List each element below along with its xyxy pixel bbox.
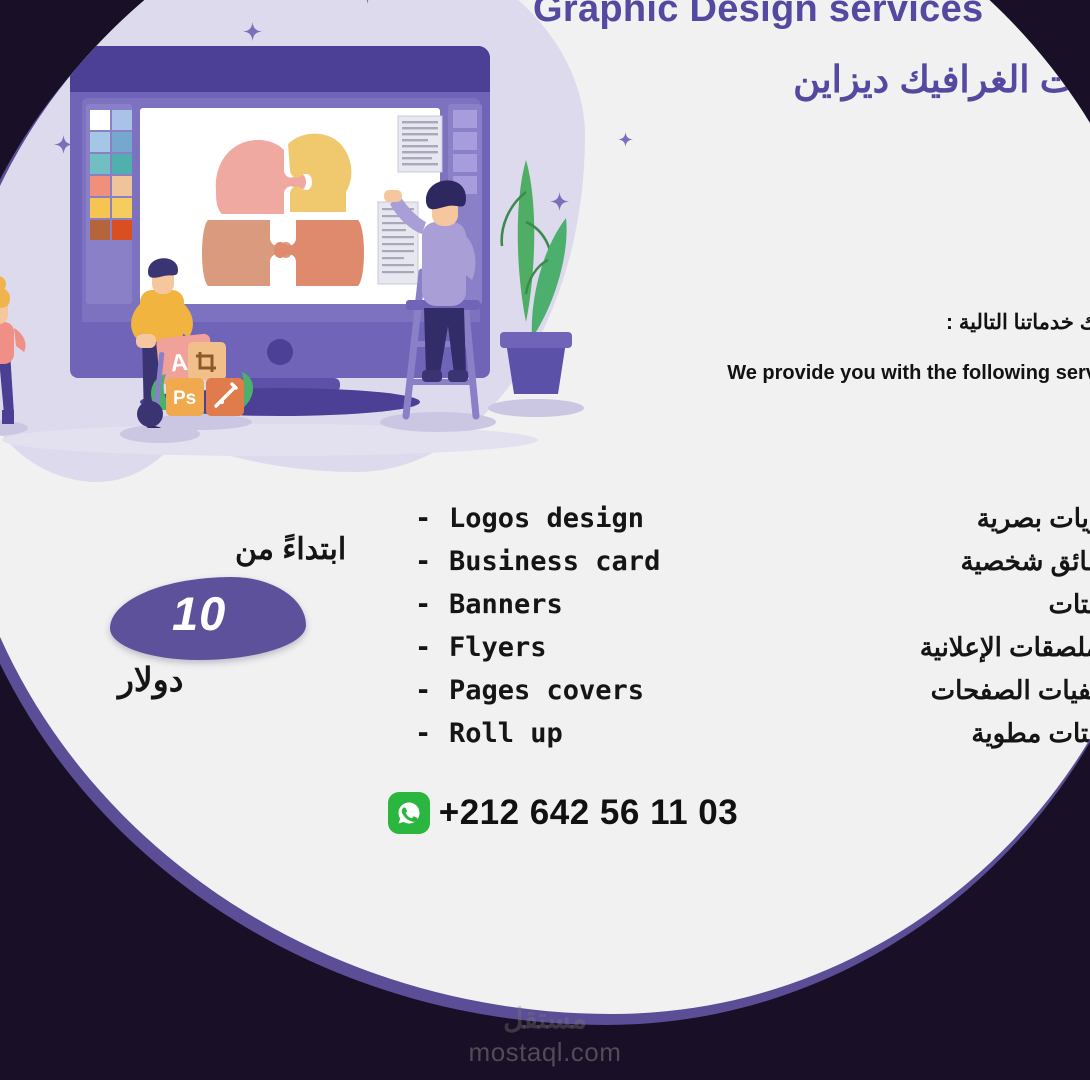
- service-label: لافتات: [1048, 589, 1090, 619]
- bullet-dash: -: [415, 712, 449, 755]
- list-item: -Roll up: [415, 712, 660, 755]
- sparkle-star-icon: [98, 0, 124, 24]
- service-label: Business card: [449, 546, 660, 577]
- service-label: Pages covers: [449, 675, 644, 706]
- list-item: -Logos design: [415, 497, 660, 540]
- services-list-english: -Logos design -Business card -Banners -F…: [415, 497, 660, 755]
- list-item: -Business card: [415, 540, 660, 583]
- service-label: خلفيات الصفحات: [931, 675, 1090, 705]
- sparkle-star-icon: [618, 132, 633, 147]
- poster-content: Ai Ps: [0, 0, 1090, 1014]
- service-label: بطائق شخصية: [960, 546, 1090, 576]
- bullet-dash: -: [415, 626, 449, 669]
- list-item: -هويات بصرية: [920, 497, 1090, 540]
- list-item: -Flyers: [415, 626, 660, 669]
- list-item: -بطائق شخصية: [920, 540, 1090, 583]
- services-intro-english: We provide you with the following servic…: [727, 362, 1090, 385]
- list-item: -Banners: [415, 583, 660, 626]
- price-amount: 10: [172, 586, 226, 641]
- list-item: -Pages covers: [415, 669, 660, 712]
- service-label: لافتات مطوية: [971, 718, 1090, 748]
- price-from-label: ابتداءً من: [235, 532, 346, 567]
- whatsapp-icon[interactable]: [388, 792, 430, 834]
- svg-text:Ps: Ps: [173, 388, 196, 409]
- service-label: Flyers: [449, 632, 547, 663]
- bullet-dash: -: [415, 669, 449, 712]
- graphic-design-team-illustration: Ai Ps: [0, 22, 590, 462]
- services-intro-arabic: نوفر لك خدماتنا التالية :: [946, 310, 1090, 335]
- service-label: هويات بصرية: [977, 503, 1090, 533]
- list-item: -لافتات: [920, 583, 1090, 626]
- page-title-arabic: خدمات الغرافيك ديزاين: [793, 58, 1090, 101]
- list-item: -الملصقات الإعلانية: [920, 626, 1090, 669]
- services-list-arabic: -هويات بصرية -بطائق شخصية -لافتات -الملص…: [920, 497, 1090, 755]
- service-label: الملصقات الإعلانية: [920, 632, 1090, 662]
- phone-number[interactable]: +212 642 56 11 03: [439, 793, 739, 833]
- service-label: Banners: [449, 589, 563, 620]
- list-item: -خلفيات الصفحات: [920, 669, 1090, 712]
- bullet-dash: -: [415, 540, 449, 583]
- sparkle-star-icon: [355, 0, 380, 4]
- poster-root: Ai Ps: [0, 0, 1090, 1080]
- contact-row[interactable]: +212 642 56 11 03: [0, 792, 1090, 834]
- bullet-dash: -: [415, 583, 449, 626]
- price-currency-label: دولار: [118, 660, 183, 699]
- page-title-english: Graphic Design services: [533, 0, 983, 31]
- service-label: Logos design: [449, 503, 644, 534]
- list-item: -لافتات مطوية: [920, 712, 1090, 755]
- white-content-card: Ai Ps: [0, 0, 1090, 1014]
- service-label: Roll up: [449, 718, 563, 749]
- bullet-dash: -: [415, 497, 449, 540]
